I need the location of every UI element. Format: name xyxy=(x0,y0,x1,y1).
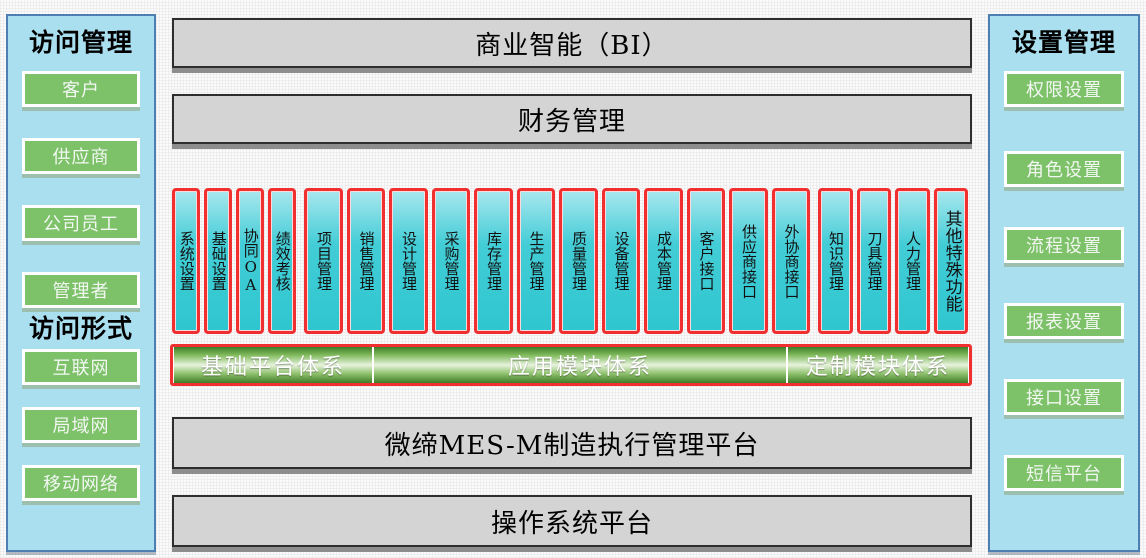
sidebar-item-report-settings[interactable]: 报表设置 xyxy=(1004,303,1124,339)
sidebar-item-label: 权限设置 xyxy=(1026,76,1102,102)
left-panel-title: 访问管理 xyxy=(8,30,154,55)
module-label: 项目管理 xyxy=(315,231,331,291)
module-supplier-interface[interactable]: 供应商接口 xyxy=(729,188,768,334)
architecture-diagram: 访问管理 客户 供应商 公司员工 管理者 访问形式 互联网 xyxy=(0,0,1146,558)
module-label: 客户接口 xyxy=(698,231,714,291)
module-production-management[interactable]: 生产管理 xyxy=(517,188,556,334)
module-design-management[interactable]: 设计管理 xyxy=(389,188,428,334)
left-panel-subtitle: 访问形式 xyxy=(8,316,154,341)
layer-business-intelligence: 商业智能（BI） xyxy=(172,18,972,68)
sidebar-item-label: 管理者 xyxy=(53,277,110,303)
sidebar-item-internet[interactable]: 互联网 xyxy=(22,349,140,385)
module-group-base-platform: 系统设置 基础设置 协同OA 绩效考核 xyxy=(170,188,298,334)
module-label: 库存管理 xyxy=(485,231,501,291)
module-system-settings[interactable]: 系统设置 xyxy=(172,188,200,334)
sidebar-item-label: 移动网络 xyxy=(43,470,119,496)
sidebar-item-label: 公司员工 xyxy=(43,210,119,236)
module-inventory-management[interactable]: 库存管理 xyxy=(474,188,513,334)
layer-label: 微缔MES-M制造执行管理平台 xyxy=(385,425,760,462)
module-group-application: 项目管理 销售管理 设计管理 采购管理 库存管理 生产管理 质量管理 设备管理 xyxy=(302,188,812,334)
sidebar-item-role-settings[interactable]: 角色设置 xyxy=(1004,151,1124,187)
access-management-panel: 访问管理 客户 供应商 公司员工 管理者 访问形式 互联网 xyxy=(6,14,156,552)
module-label: 系统设置 xyxy=(178,231,194,291)
system-bar-label: 应用模块体系 xyxy=(508,349,652,381)
sidebar-item-company-employee[interactable]: 公司员工 xyxy=(22,205,140,241)
module-project-management[interactable]: 项目管理 xyxy=(304,188,343,334)
sidebar-item-label: 角色设置 xyxy=(1026,156,1102,182)
module-tool-management[interactable]: 刀具管理 xyxy=(857,188,892,334)
sidebar-item-customer[interactable]: 客户 xyxy=(22,71,140,107)
module-label: 绩效考核 xyxy=(274,231,290,291)
module-sales-management[interactable]: 销售管理 xyxy=(347,188,386,334)
layer-financial-management: 财务管理 xyxy=(172,94,972,144)
sidebar-item-label: 短信平台 xyxy=(1026,460,1102,486)
module-label: 销售管理 xyxy=(358,231,374,291)
system-bar-custom-modules[interactable]: 定制模块体系 xyxy=(787,347,969,383)
module-knowledge-management[interactable]: 知识管理 xyxy=(818,188,853,334)
module-label: 成本管理 xyxy=(655,231,671,291)
module-cost-management[interactable]: 成本管理 xyxy=(644,188,683,334)
module-label: 人力管理 xyxy=(904,231,920,291)
module-label: 基础设置 xyxy=(210,231,226,291)
sidebar-item-sms-platform[interactable]: 短信平台 xyxy=(1004,455,1124,491)
sidebar-item-interface-settings[interactable]: 接口设置 xyxy=(1004,379,1124,415)
layer-mes-platform: 微缔MES-M制造执行管理平台 xyxy=(172,417,972,469)
layer-operating-system-platform: 操作系统平台 xyxy=(172,495,972,547)
module-label: 设计管理 xyxy=(400,231,416,291)
module-columns-row: 系统设置 基础设置 协同OA 绩效考核 项目管理 销售管理 设计管理 xyxy=(170,188,970,334)
sidebar-item-label: 互联网 xyxy=(53,354,110,380)
system-bar-application-modules[interactable]: 应用模块体系 xyxy=(373,347,787,383)
module-label: 供应商接口 xyxy=(740,224,756,299)
module-label: 设备管理 xyxy=(613,231,629,291)
module-label: 协同OA xyxy=(242,228,258,294)
sidebar-item-manager[interactable]: 管理者 xyxy=(22,272,140,308)
module-label: 生产管理 xyxy=(528,231,544,291)
module-performance-appraisal[interactable]: 绩效考核 xyxy=(268,188,296,334)
module-quality-management[interactable]: 质量管理 xyxy=(559,188,598,334)
sidebar-item-lan[interactable]: 局域网 xyxy=(22,407,140,443)
module-group-custom: 知识管理 刀具管理 人力管理 其他特殊功能 xyxy=(816,188,970,334)
layer-label: 操作系统平台 xyxy=(491,503,653,540)
module-label: 采购管理 xyxy=(443,231,459,291)
module-human-resource-management[interactable]: 人力管理 xyxy=(895,188,930,334)
module-other-special-functions[interactable]: 其他特殊功能 xyxy=(934,188,969,334)
module-label: 刀具管理 xyxy=(866,231,882,291)
module-label: 知识管理 xyxy=(827,231,843,291)
module-label: 其他特殊功能 xyxy=(942,210,960,312)
module-customer-interface[interactable]: 客户接口 xyxy=(687,188,726,334)
sidebar-item-label: 供应商 xyxy=(53,143,110,169)
settings-management-panel: 设置管理 权限设置 角色设置 流程设置 报表设置 接口设置 xyxy=(988,14,1140,552)
sidebar-item-label: 局域网 xyxy=(53,412,110,438)
layer-label: 商业智能（BI） xyxy=(475,25,668,62)
right-panel-title: 设置管理 xyxy=(990,30,1138,55)
sidebar-item-permission-settings[interactable]: 权限设置 xyxy=(1004,71,1124,107)
module-equipment-management[interactable]: 设备管理 xyxy=(602,188,641,334)
sidebar-item-label: 流程设置 xyxy=(1026,232,1102,258)
system-bar-label: 基础平台体系 xyxy=(201,349,345,381)
sidebar-item-supplier[interactable]: 供应商 xyxy=(22,138,140,174)
system-bar-base-platform[interactable]: 基础平台体系 xyxy=(173,347,373,383)
module-outsourcing-interface[interactable]: 外协商接口 xyxy=(772,188,811,334)
sidebar-item-label: 接口设置 xyxy=(1026,384,1102,410)
sidebar-item-label: 报表设置 xyxy=(1026,308,1102,334)
module-label: 外协商接口 xyxy=(783,224,799,299)
layer-label: 财务管理 xyxy=(518,101,626,138)
module-collaborative-oa[interactable]: 协同OA xyxy=(236,188,264,334)
system-bars-row: 基础平台体系 应用模块体系 定制模块体系 xyxy=(170,344,972,386)
module-label: 质量管理 xyxy=(570,231,586,291)
sidebar-item-label: 客户 xyxy=(62,76,100,102)
module-procurement-management[interactable]: 采购管理 xyxy=(432,188,471,334)
sidebar-item-process-settings[interactable]: 流程设置 xyxy=(1004,227,1124,263)
module-basic-settings[interactable]: 基础设置 xyxy=(204,188,232,334)
sidebar-item-mobile-network[interactable]: 移动网络 xyxy=(22,465,140,501)
system-bar-label: 定制模块体系 xyxy=(806,349,950,381)
